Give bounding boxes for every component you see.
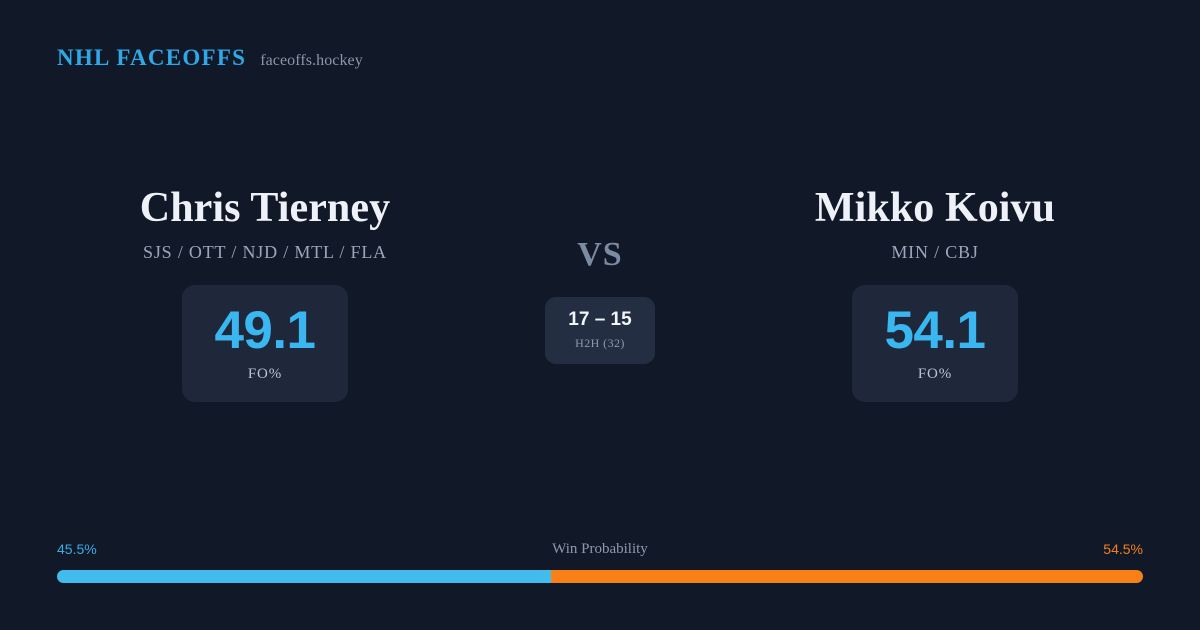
win-probability-right-value: 54.5% <box>1103 540 1143 559</box>
win-probability-bar <box>57 570 1143 583</box>
head-to-head-score: 17 – 15 <box>568 310 631 329</box>
win-probability-bar-left-segment <box>57 570 551 583</box>
win-probability-labels: 45.5% Win Probability 54.5% <box>57 540 1143 559</box>
versus-label: VS <box>577 238 623 272</box>
head-to-head-label: H2H (32) <box>575 336 625 351</box>
player-teams-right: MIN / CBJ <box>891 242 978 263</box>
head-to-head-box: 17 – 15 H2H (32) <box>545 297 655 364</box>
brand-title: NHL FACEOFFS <box>57 46 246 69</box>
faceoff-percent-right: 54.1 <box>884 304 985 357</box>
site-domain: faceoffs.hockey <box>260 53 363 69</box>
faceoff-percent-left: 49.1 <box>214 304 315 357</box>
versus-column: VS 17 – 15 H2H (32) <box>500 185 700 364</box>
faceoff-stat-label-left: FO% <box>248 366 282 383</box>
faceoff-stat-label-right: FO% <box>918 366 952 383</box>
site-header: NHL FACEOFFS faceoffs.hockey <box>57 46 363 69</box>
win-probability-title: Win Probability <box>57 540 1143 559</box>
win-probability-section: 45.5% Win Probability 54.5% <box>57 540 1143 583</box>
matchup-section: Chris Tierney SJS / OTT / NJD / MTL / FL… <box>0 185 1200 402</box>
player-name-right: Mikko Koivu <box>815 185 1055 232</box>
player-card-right: Mikko Koivu MIN / CBJ 54.1 FO% <box>700 185 1170 402</box>
faceoff-stat-card-right: 54.1 FO% <box>852 285 1018 402</box>
player-teams-left: SJS / OTT / NJD / MTL / FLA <box>143 242 387 263</box>
player-card-left: Chris Tierney SJS / OTT / NJD / MTL / FL… <box>30 185 500 402</box>
player-name-left: Chris Tierney <box>140 185 390 232</box>
faceoff-stat-card-left: 49.1 FO% <box>182 285 348 402</box>
win-probability-bar-right-segment <box>551 570 1143 583</box>
